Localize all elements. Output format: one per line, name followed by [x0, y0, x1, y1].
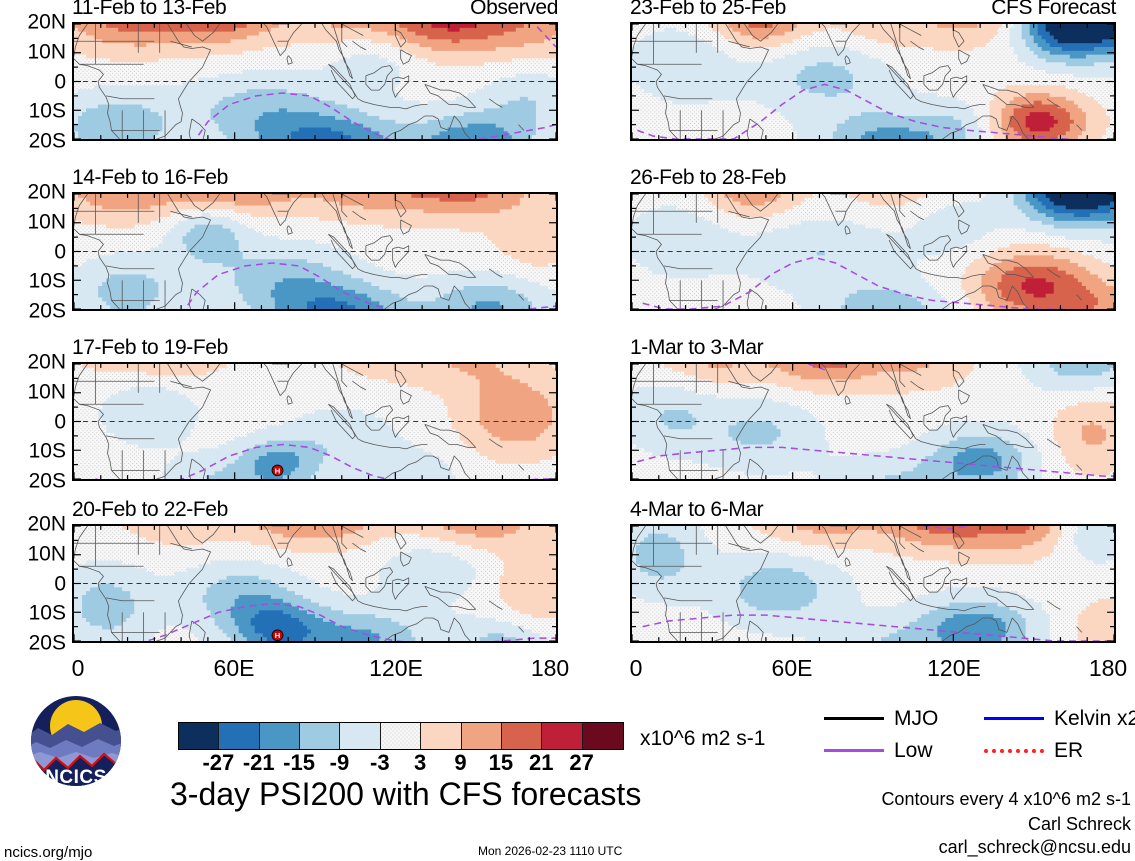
y-tick-label: 20N [27, 514, 66, 535]
author-name: Carl Schreck [1028, 815, 1131, 833]
y-tick-label: 20N [27, 352, 66, 373]
colorbar-swatch [381, 723, 421, 749]
colorbar-swatch [462, 723, 502, 749]
y-tick-label: 0 [54, 241, 66, 262]
panel-title: 17-Feb to 19-Feb [72, 337, 228, 358]
legend-line-swatch [984, 717, 1044, 720]
colorbar-swatch [583, 723, 623, 749]
colorbar-swatch [219, 723, 259, 749]
map-area: H [72, 362, 558, 481]
site-url: ncics.org/mjo [4, 845, 92, 860]
colorbar-tick: -9 [330, 752, 350, 774]
svg-text:H: H [275, 631, 281, 640]
y-tick-label: 0 [54, 411, 66, 432]
colorbar-swatch [542, 723, 582, 749]
y-tick-label: 10S [29, 101, 66, 122]
y-axis-labels: 20N10N010S20S [0, 192, 66, 311]
colorbar-swatch [421, 723, 461, 749]
y-tick-label: 20S [29, 471, 66, 492]
map-panel-8: 4-Mar to 6-Mar [630, 524, 1116, 643]
colorbar-swatch [502, 723, 542, 749]
legend-line-swatch [824, 717, 884, 720]
x-tick-label: 180 [1089, 657, 1127, 680]
map-panel-7: 1-Mar to 3-Mar [630, 362, 1116, 481]
y-axis-labels: 20N10N010S20S [0, 362, 66, 481]
colorbar-tick: 27 [569, 752, 593, 774]
colorbar: -27-21-15-9-339152127 x10^6 m2 s-1 [178, 722, 622, 782]
x-tick-label: 120E [927, 657, 981, 680]
map-area [630, 192, 1116, 311]
map-area [72, 192, 558, 311]
x-tick-label: 0 [72, 657, 85, 680]
x-tick-label: 60E [214, 657, 255, 680]
panel-title: 11-Feb to 13-Feb [72, 0, 226, 18]
legend-label: ER [1054, 740, 1083, 761]
legend-label: MJO [894, 708, 938, 729]
y-tick-label: 10N [27, 211, 66, 232]
y-tick-label: 20S [29, 131, 66, 152]
colorbar-swatch [260, 723, 300, 749]
y-tick-label: 0 [54, 573, 66, 594]
colorbar-swatch [340, 723, 380, 749]
colorbar-tick: -27 [202, 752, 234, 774]
map-area [630, 22, 1116, 141]
map-panel-1: 11-Feb to 13-FebObserved [72, 22, 558, 141]
y-tick-label: 10S [29, 603, 66, 624]
panel-corner-label: Observed [470, 0, 558, 18]
x-tick-label: 120E [369, 657, 423, 680]
colorbar-tick: -21 [243, 752, 275, 774]
colorbar-tick: -15 [283, 752, 315, 774]
colorbar-swatches [178, 722, 624, 750]
y-tick-label: 0 [54, 71, 66, 92]
colorbar-swatch [300, 723, 340, 749]
panel-title: 20-Feb to 22-Feb [72, 499, 228, 520]
contour-note: Contours every 4 x10^6 m2 s-1 [881, 790, 1131, 808]
x-tick-label: 0 [630, 657, 643, 680]
y-tick-label: 20N [27, 182, 66, 203]
colorbar-swatch [179, 723, 219, 749]
y-tick-label: 20N [27, 12, 66, 33]
y-tick-label: 10S [29, 441, 66, 462]
wave-legend: MJOKelvin x2LowER [824, 708, 1135, 770]
map-area [630, 362, 1116, 481]
map-panel-5: 23-Feb to 25-FebCFS Forecast [630, 22, 1116, 141]
map-panel-3: 17-Feb to 19-Feb H [72, 362, 558, 481]
map-panel-6: 26-Feb to 28-Feb [630, 192, 1116, 311]
legend-item: ER [984, 740, 1083, 761]
colorbar-tick: 21 [529, 752, 553, 774]
colorbar-tick: -3 [370, 752, 390, 774]
legend-line-swatch [824, 749, 884, 752]
colorbar-tick: 9 [454, 752, 466, 774]
y-axis-labels: 20N10N010S20S [0, 22, 66, 141]
colorbar-tick: 3 [414, 752, 426, 774]
legend-label: Low [894, 740, 933, 761]
y-tick-label: 10N [27, 543, 66, 564]
panel-corner-label: CFS Forecast [991, 0, 1116, 18]
svg-text:H: H [275, 466, 281, 475]
legend-label: Kelvin x2 [1054, 708, 1135, 729]
x-tick-label: 60E [772, 657, 813, 680]
y-tick-label: 10N [27, 41, 66, 62]
map-area [630, 524, 1116, 643]
colorbar-units-label: x10^6 m2 s-1 [640, 728, 765, 749]
author-email: carl_schreck@ncsu.edu [939, 838, 1131, 856]
map-area: H [72, 524, 558, 643]
y-axis-labels: 20N10N010S20S [0, 524, 66, 643]
main-title: 3-day PSI200 with CFS forecasts [170, 778, 641, 810]
legend-item: Kelvin x2 [984, 708, 1135, 729]
ncics-logo: NCICS [22, 692, 130, 790]
y-tick-label: 20S [29, 633, 66, 654]
legend-line-swatch [984, 749, 1044, 753]
map-panel-4: 20-Feb to 22-Feb H [72, 524, 558, 643]
panel-title: 23-Feb to 25-Feb [630, 0, 786, 18]
y-tick-label: 10N [27, 381, 66, 402]
panel-title: 14-Feb to 16-Feb [72, 167, 228, 188]
y-tick-label: 20S [29, 301, 66, 322]
map-area [72, 22, 558, 141]
x-axis-labels: 060E120E180 [72, 657, 558, 685]
legend-item: MJO [824, 708, 938, 729]
timestamp: Mon 2026-02-23 1110 UTC [478, 845, 622, 857]
colorbar-tick: 15 [489, 752, 513, 774]
y-tick-label: 10S [29, 271, 66, 292]
map-panel-2: 14-Feb to 16-Feb [72, 192, 558, 311]
panel-title: 1-Mar to 3-Mar [630, 337, 763, 358]
x-axis-labels: 060E120E180 [630, 657, 1116, 685]
panel-title: 4-Mar to 6-Mar [630, 499, 763, 520]
panel-title: 26-Feb to 28-Feb [630, 167, 786, 188]
x-tick-label: 180 [531, 657, 569, 680]
svg-text:NCICS: NCICS [45, 767, 107, 788]
legend-item: Low [824, 740, 933, 761]
